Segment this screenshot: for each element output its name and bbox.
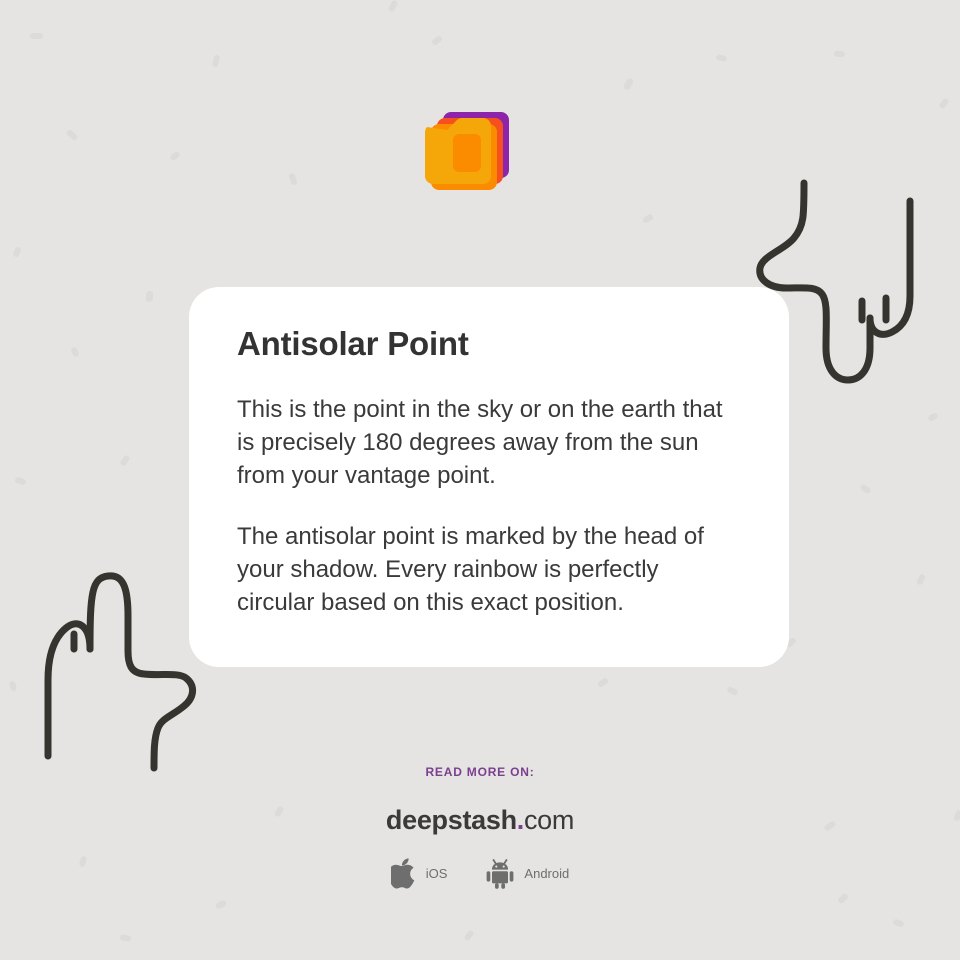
- background-speck: [70, 346, 80, 358]
- logo-icon: [425, 98, 535, 208]
- background-speck: [212, 55, 220, 68]
- background-speck: [30, 33, 43, 39]
- pointing-up-hand-icon: [18, 556, 213, 786]
- read-more-label: READ MORE ON:: [0, 765, 960, 779]
- background-speck: [431, 35, 443, 47]
- background-speck: [463, 929, 475, 941]
- background-speck: [14, 476, 26, 485]
- background-speck: [12, 246, 21, 257]
- brand-tld: com: [524, 805, 574, 835]
- brand-dot: .: [517, 805, 524, 835]
- background-speck: [622, 77, 634, 91]
- pointing-up-hand-illustration: [18, 556, 213, 781]
- content-card: Antisolar Point This is the point in the…: [189, 287, 789, 667]
- ios-badge-label: iOS: [426, 866, 448, 881]
- background-speck: [597, 677, 609, 688]
- background-speck: [9, 680, 18, 691]
- ios-app-badge[interactable]: iOS: [391, 858, 448, 889]
- background-speck: [916, 573, 926, 586]
- brand-name: deepstash: [386, 805, 517, 835]
- background-speck: [715, 54, 727, 63]
- body-paragraph-1: This is the point in the sky or on the e…: [237, 393, 741, 492]
- background-speck: [892, 918, 904, 927]
- android-badge-label: Android: [524, 866, 569, 881]
- background-speck: [859, 483, 871, 494]
- app-badges: iOS A: [0, 858, 960, 889]
- background-speck: [145, 291, 153, 303]
- apple-icon: [391, 858, 417, 889]
- background-speck: [215, 899, 228, 909]
- background-speck: [726, 686, 739, 697]
- page-title: Antisolar Point: [237, 325, 741, 363]
- android-app-badge[interactable]: Android: [485, 858, 569, 889]
- background-speck: [642, 213, 655, 224]
- deepstash-logo: [0, 98, 960, 208]
- body-paragraph-2: The antisolar point is marked by the hea…: [237, 520, 741, 619]
- poster-canvas: Antisolar Point This is the point in the…: [0, 0, 960, 960]
- background-speck: [837, 892, 849, 904]
- background-speck: [120, 934, 132, 942]
- background-speck: [388, 0, 399, 13]
- background-speck: [834, 51, 845, 58]
- brand-wordmark[interactable]: deepstash.com: [0, 805, 960, 836]
- android-icon: [485, 858, 515, 889]
- background-speck: [927, 412, 939, 422]
- background-speck: [119, 454, 130, 466]
- footer: READ MORE ON: deepstash.com iOS: [0, 765, 960, 889]
